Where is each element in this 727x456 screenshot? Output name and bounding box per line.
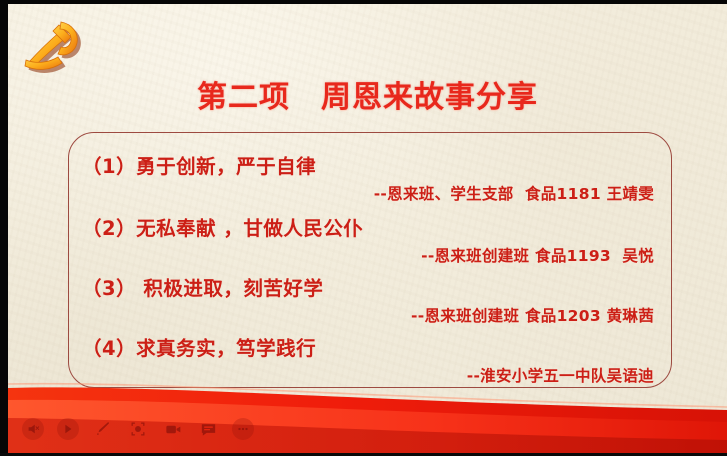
story-list: （1）勇于创新，严于自律 --恩来班、学生支部 食品1181 王靖雯 （2）无私…	[76, 136, 672, 386]
presentation-screen: 第二项 周恩来故事分享 （1）勇于创新，严于自律 --恩来班、学生支部 食品11…	[0, 0, 727, 456]
video-camera-icon[interactable]	[162, 418, 184, 440]
slide-canvas: 第二项 周恩来故事分享 （1）勇于创新，严于自律 --恩来班、学生支部 食品11…	[8, 4, 727, 454]
story-item-credit: --恩来班、学生支部 食品1181 王靖雯	[374, 182, 672, 204]
story-item-label: （3） 积极进取，刻苦好学	[82, 272, 323, 301]
letterbox-left	[0, 0, 8, 456]
letterbox-top	[0, 0, 727, 4]
story-item-label: （1）勇于创新，严于自律	[82, 150, 316, 179]
story-item-label: （4）求真务实，笃学践行	[82, 332, 316, 361]
story-item-credit: --淮安小学五一中队吴语迪	[467, 364, 672, 386]
player-toolbar[interactable]	[22, 418, 254, 440]
chat-bubble-icon[interactable]	[197, 418, 219, 440]
story-item-credit: --恩来班创建班 食品1193 吴悦	[421, 244, 672, 266]
slide-title: 第二项 周恩来故事分享	[8, 72, 727, 116]
story-item-label: （2）无私奉献 ，甘做人民公仆	[82, 212, 363, 241]
play-icon[interactable]	[57, 418, 79, 440]
laser-pointer-icon[interactable]	[127, 418, 149, 440]
cpc-hammer-sickle-emblem	[16, 14, 88, 80]
story-item-credit: --恩来班创建班 食品1203 黄琳茜	[411, 304, 672, 326]
pen-icon[interactable]	[92, 418, 114, 440]
volume-mute-icon[interactable]	[22, 418, 44, 440]
more-dots-icon[interactable]	[232, 418, 254, 440]
